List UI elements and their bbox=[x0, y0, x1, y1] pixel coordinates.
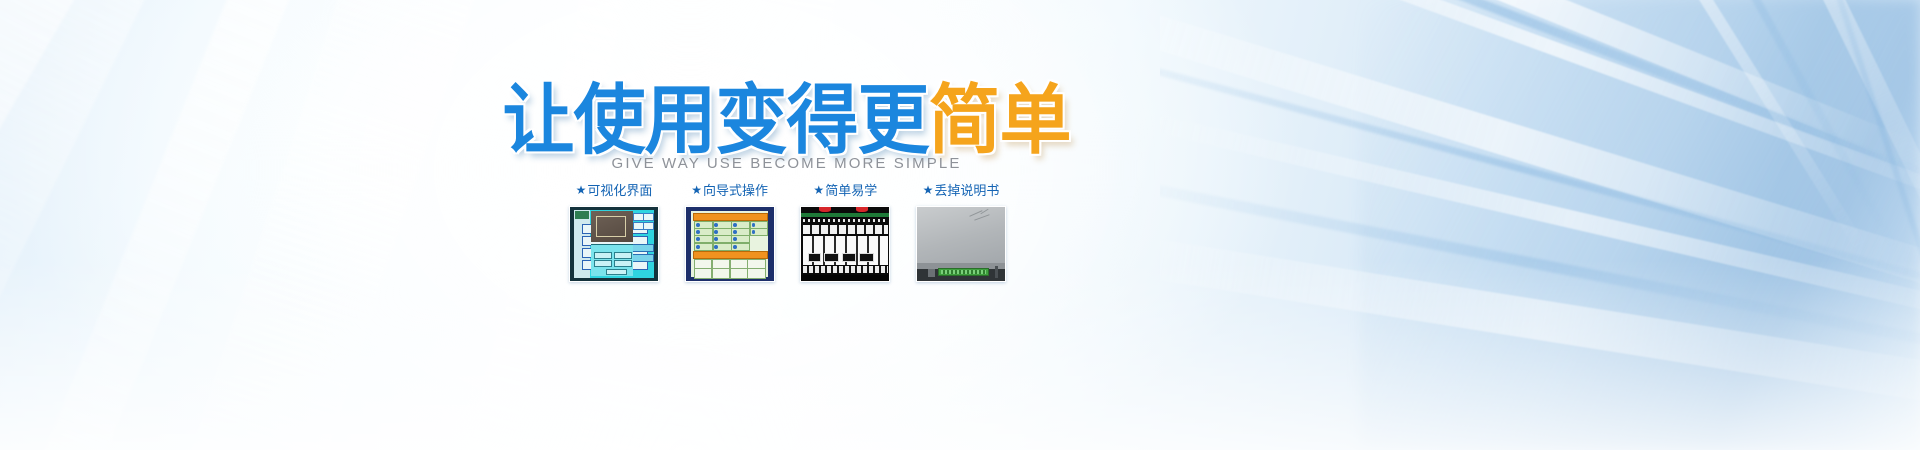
feature-label: 丢掉说明书 bbox=[934, 180, 999, 199]
feature-label-row: ★ 向导式操作 bbox=[691, 180, 768, 199]
headline-subtitle: GIVE WAY USE BECOME MORE SIMPLE bbox=[0, 155, 1573, 172]
hero-banner: 让使用变得更简单 GIVE WAY USE BECOME MORE SIMPLE… bbox=[0, 0, 1920, 450]
feature-thumbnail-hmi-screen[interactable] bbox=[569, 206, 659, 282]
feature-label-row: ★ 可视化界面 bbox=[576, 180, 653, 199]
feature-label-row: ★ 丢掉说明书 bbox=[923, 180, 1000, 199]
star-icon: ★ bbox=[923, 184, 934, 196]
headline: 让使用变得更简单 bbox=[0, 82, 1573, 158]
feature-label-row: ★ 简单易学 bbox=[813, 180, 877, 199]
feature-label: 可视化界面 bbox=[587, 180, 652, 199]
feature-label: 向导式操作 bbox=[703, 180, 768, 199]
feature-item-visual-interface[interactable]: ★ 可视化界面 bbox=[565, 180, 663, 282]
star-icon: ★ bbox=[576, 184, 587, 196]
feature-thumbnail-terminal-strip[interactable] bbox=[800, 206, 890, 282]
feature-item-wizard-operation[interactable]: ★ 向导式操作 bbox=[681, 180, 779, 282]
star-icon: ★ bbox=[813, 184, 824, 196]
panel-marking bbox=[966, 210, 996, 226]
feature-thumbnail-menu-screen[interactable] bbox=[685, 206, 775, 282]
feature-item-easy-to-learn[interactable]: ★ 简单易学 bbox=[796, 180, 894, 282]
feature-item-no-manual[interactable]: ★ 丢掉说明书 bbox=[912, 180, 1010, 282]
feature-label: 简单易学 bbox=[825, 180, 877, 199]
headline-blue: 让使用变得更 bbox=[502, 82, 928, 158]
feature-list: ★ 可视化界面 bbox=[565, 180, 1010, 282]
feature-thumbnail-machine-panel[interactable] bbox=[916, 206, 1006, 282]
banner-content: 让使用变得更简单 GIVE WAY USE BECOME MORE SIMPLE… bbox=[0, 0, 1920, 450]
star-icon: ★ bbox=[691, 184, 702, 196]
headline-orange: 简单 bbox=[929, 82, 1071, 158]
